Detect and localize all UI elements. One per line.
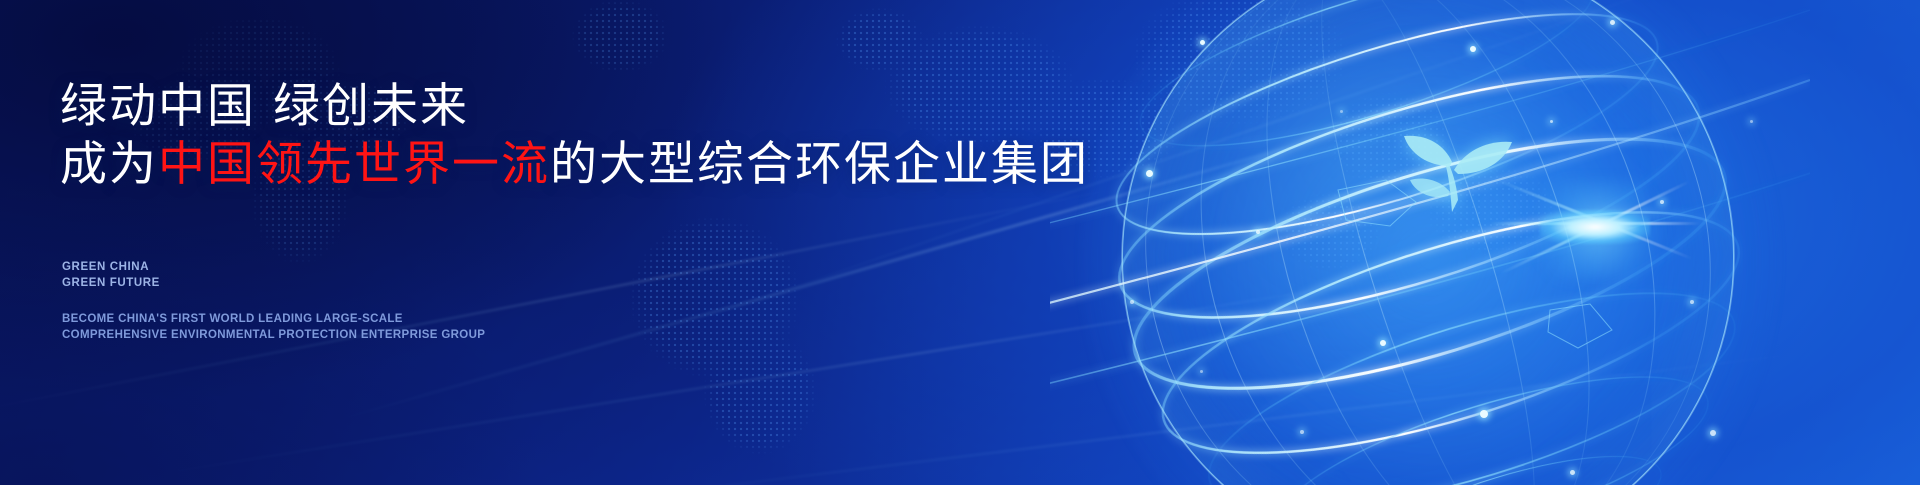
english-subtitle: GREEN CHINA GREEN FUTURE — [62, 259, 160, 292]
headline-highlight: 中国领先世界一流 — [158, 137, 550, 192]
hero-banner: 绿动中国 绿创未来 成为中国领先世界一流的大型综合环保企业集团 GREEN CH… — [0, 0, 1920, 485]
english-tagline-line-2: COMPREHENSIVE ENVIRONMENTAL PROTECTION E… — [62, 327, 485, 343]
english-subtitle-line-1: GREEN CHINA — [62, 259, 160, 275]
english-tagline: BECOME CHINA'S FIRST WORLD LEADING LARGE… — [62, 311, 485, 344]
banner-copy: 绿动中国 绿创未来 成为中国领先世界一流的大型综合环保企业集团 GREEN CH… — [60, 0, 1060, 485]
headline-suffix: 的大型综合环保企业集团 — [550, 137, 1089, 192]
headline-prefix: 成为 — [60, 137, 158, 192]
headline-line-2: 成为中国领先世界一流的大型综合环保企业集团 — [60, 136, 1089, 194]
headline-line-1: 绿动中国 绿创未来 — [60, 79, 469, 134]
english-tagline-line-1: BECOME CHINA'S FIRST WORLD LEADING LARGE… — [62, 311, 485, 327]
english-subtitle-line-2: GREEN FUTURE — [62, 275, 160, 291]
headline: 绿动中国 绿创未来 成为中国领先世界一流的大型综合环保企业集团 — [60, 78, 1089, 195]
